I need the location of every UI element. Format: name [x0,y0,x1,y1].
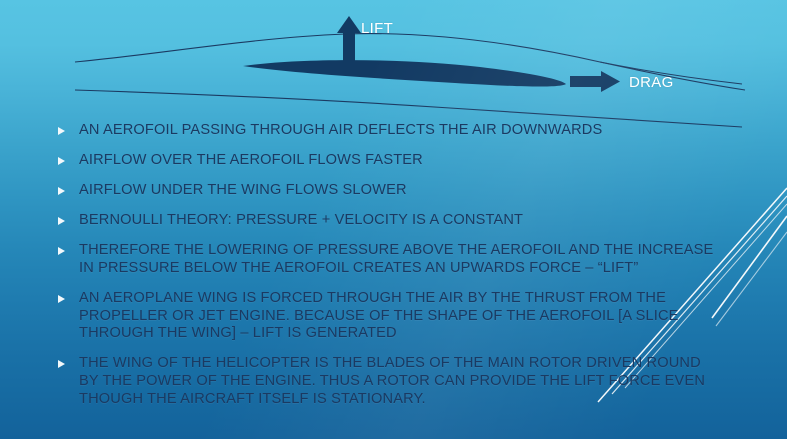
lift-label: LIFT [361,20,393,37]
bullet-text: AIRFLOW UNDER THE WING FLOWS SLOWER [79,182,407,200]
bullet-list: AN AEROFOIL PASSING THROUGH AIR DEFLECTS… [58,122,718,421]
list-item: AIRFLOW OVER THE AEROFOIL FLOWS FASTER [58,152,718,170]
bullet-text: AN AEROFOIL PASSING THROUGH AIR DEFLECTS… [79,122,602,140]
drag-arrow-icon [570,71,620,92]
bullet-text: AIRFLOW OVER THE AEROFOIL FLOWS FASTER [79,152,423,170]
aerofoil-shape [243,60,566,86]
list-item: AIRFLOW UNDER THE WING FLOWS SLOWER [58,182,718,200]
triangle-bullet-icon [58,187,65,195]
lift-arrow-icon [337,16,361,62]
triangle-bullet-icon [58,217,65,225]
bullet-text: THE WING OF THE HELICOPTER IS THE BLADES… [79,355,718,408]
list-item: AN AEROFOIL PASSING THROUGH AIR DEFLECTS… [58,122,718,140]
triangle-bullet-icon [58,247,65,255]
triangle-bullet-icon [58,157,65,165]
triangle-bullet-icon [58,127,65,135]
bullet-text: BERNOULLI THEORY: PRESSURE + VELOCITY IS… [79,212,523,230]
bullet-text: THEREFORE THE LOWERING OF PRESSURE ABOVE… [79,242,718,277]
triangle-bullet-icon [58,295,65,303]
list-item: THEREFORE THE LOWERING OF PRESSURE ABOVE… [58,242,718,277]
triangle-bullet-icon [58,360,65,368]
list-item: THE WING OF THE HELICOPTER IS THE BLADES… [58,355,718,408]
list-item: BERNOULLI THEORY: PRESSURE + VELOCITY IS… [58,212,718,230]
drag-label: DRAG [629,74,674,91]
list-item: AN AEROPLANE WING IS FORCED THROUGH THE … [58,290,718,343]
slide-canvas: LIFT DRAG AN AEROFOIL PASSING THROUGH AI… [0,0,787,439]
bullet-text: AN AEROPLANE WING IS FORCED THROUGH THE … [79,290,718,343]
